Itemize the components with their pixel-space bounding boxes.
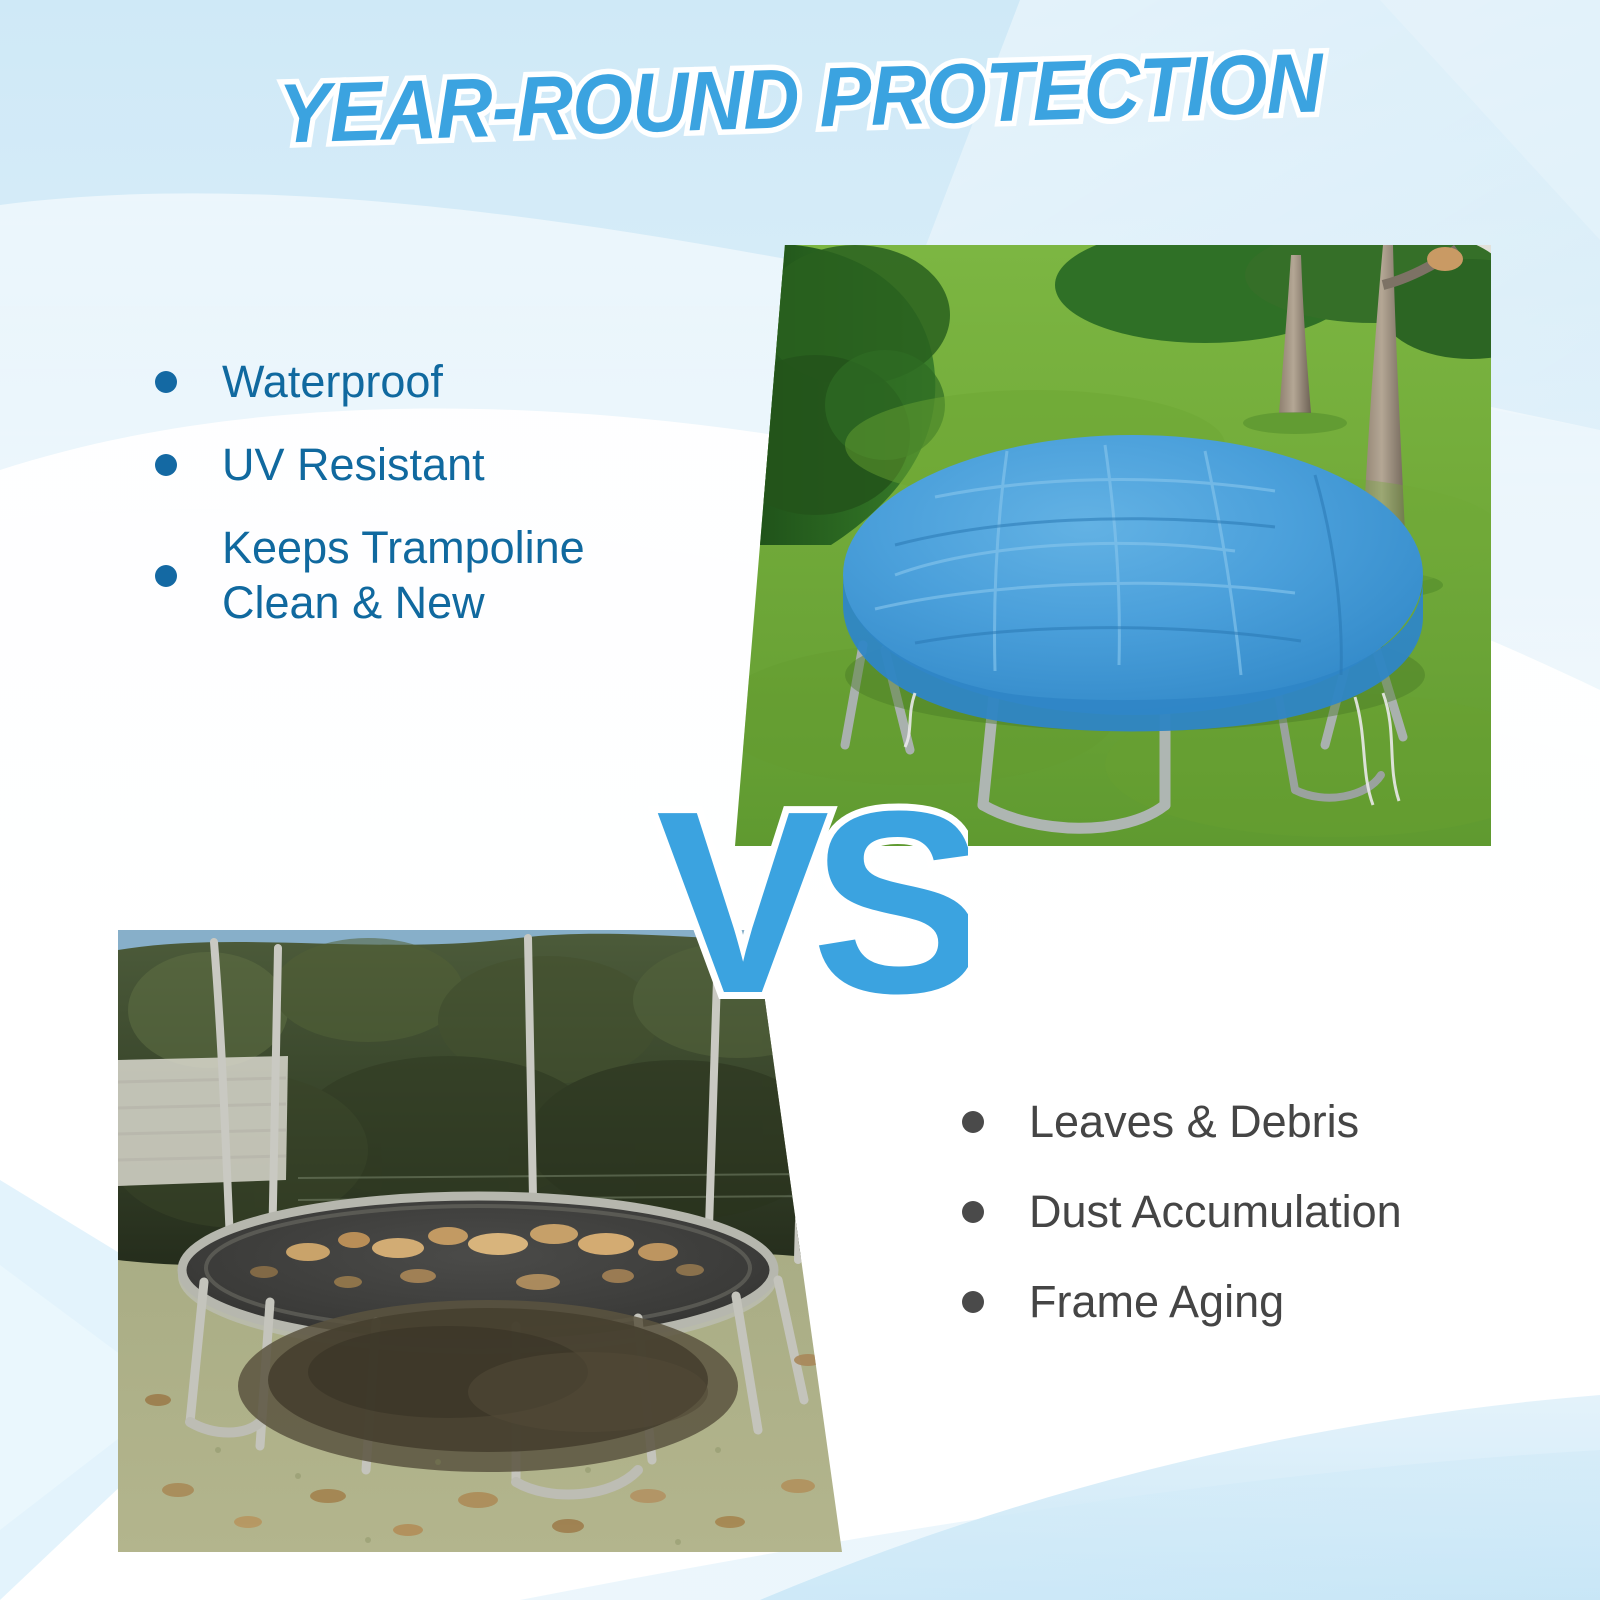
list-item: Waterproof: [155, 355, 715, 410]
photo-uncovered-trampoline: [118, 930, 842, 1552]
bullet-dot-icon: [155, 565, 177, 587]
photo-covered-trampoline: [735, 245, 1491, 846]
list-item: Dust Accumulation: [962, 1185, 1522, 1240]
pros-item-label: UV Resistant: [222, 438, 485, 493]
infographic-poster: YEAR-ROUND PROTECTION: [0, 0, 1600, 1600]
list-item: Frame Aging: [962, 1275, 1522, 1330]
list-item: Keeps Trampoline Clean & New: [155, 521, 715, 631]
pros-list: Waterproof UV Resistant Keeps Trampoline…: [155, 355, 715, 631]
pros-item-label: Keeps Trampoline Clean & New: [222, 521, 585, 631]
bullet-dot-icon: [962, 1201, 984, 1223]
list-item: UV Resistant: [155, 438, 715, 493]
bullet-dot-icon: [962, 1291, 984, 1313]
list-item: Leaves & Debris: [962, 1095, 1522, 1150]
bullet-dot-icon: [962, 1111, 984, 1133]
cons-item-label: Leaves & Debris: [1029, 1095, 1359, 1150]
bullet-dot-icon: [155, 454, 177, 476]
cons-item-label: Frame Aging: [1029, 1275, 1284, 1330]
pros-item-label: Waterproof: [222, 355, 443, 410]
bullet-dot-icon: [155, 371, 177, 393]
cons-list: Leaves & Debris Dust Accumulation Frame …: [962, 1095, 1522, 1330]
cons-item-label: Dust Accumulation: [1029, 1185, 1402, 1240]
